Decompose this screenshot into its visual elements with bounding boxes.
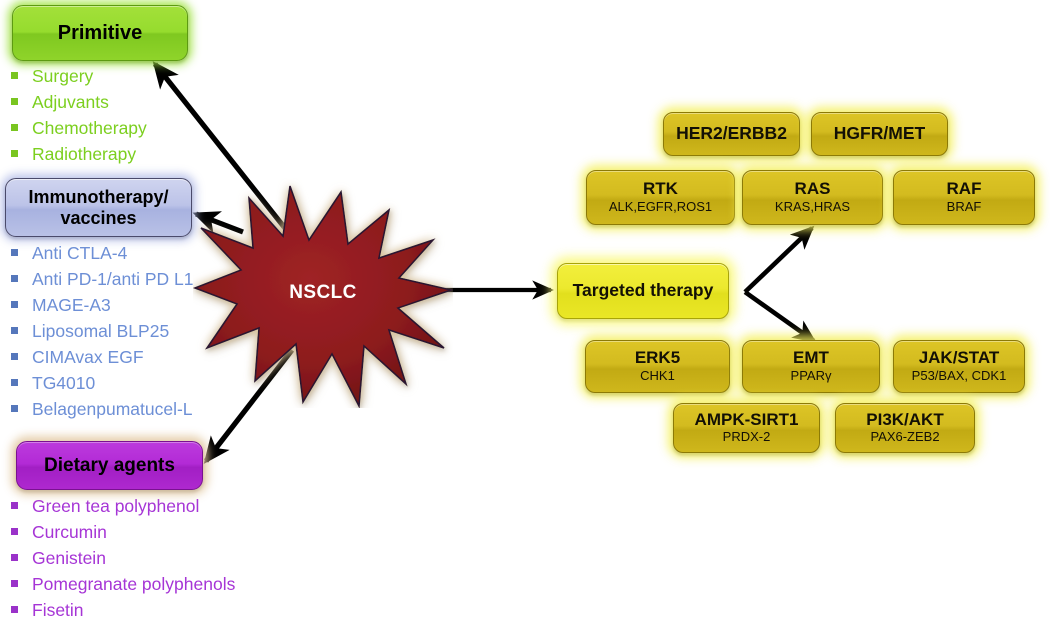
pathway-box-ras[interactable]: RAS KRAS,HRAS [742, 170, 883, 225]
list-item-label: Belagenpumatucel-L [32, 399, 193, 420]
list-item-label: Pomegranate polyphenols [32, 574, 235, 595]
list-item-label: CIMAvax EGF [32, 347, 144, 368]
pathway-sub-label: PAX6-ZEB2 [870, 430, 939, 445]
pathway-main-label: RAF [947, 180, 982, 199]
list-item: Genistein [11, 548, 235, 574]
pathway-sub-label: P53/BAX, CDK1 [912, 369, 1007, 384]
list-item: Surgery [11, 66, 147, 92]
header-primitive[interactable]: Primitive [12, 5, 188, 61]
list-item-label: Genistein [32, 548, 106, 569]
bullet-square-icon [11, 353, 18, 360]
list-item-label: Curcumin [32, 522, 107, 543]
bullet-square-icon [11, 249, 18, 256]
list-item: Chemotherapy [11, 118, 147, 144]
arrow-targeted-to-upper [745, 228, 812, 292]
list-item: Radiotherapy [11, 144, 147, 170]
pathway-main-label: ERK5 [635, 349, 680, 368]
header-immunotherapy[interactable]: Immunotherapy/ vaccines [5, 178, 192, 237]
list-item: TG4010 [11, 373, 193, 399]
bullet-square-icon [11, 150, 18, 157]
list-item-label: Adjuvants [32, 92, 109, 113]
list-item: Green tea polyphenol [11, 496, 235, 522]
pathway-box-erk5[interactable]: ERK5 CHK1 [585, 340, 730, 393]
list-item: Anti PD-1/anti PD L1 [11, 269, 193, 295]
bullet-square-icon [11, 275, 18, 282]
bullet-square-icon [11, 72, 18, 79]
bullet-square-icon [11, 301, 18, 308]
list-item: MAGE-A3 [11, 295, 193, 321]
bullet-square-icon [11, 580, 18, 587]
list-item: Adjuvants [11, 92, 147, 118]
list-item-label: Green tea polyphenol [32, 496, 199, 517]
list-item-label: Liposomal BLP25 [32, 321, 169, 342]
list-primitive: Surgery Adjuvants Chemotherapy Radiother… [11, 66, 147, 170]
list-item: Liposomal BLP25 [11, 321, 193, 347]
pathway-box-raf[interactable]: RAF BRAF [893, 170, 1035, 225]
bullet-square-icon [11, 502, 18, 509]
pathway-box-emt[interactable]: EMT PPARγ [742, 340, 880, 393]
bullet-square-icon [11, 327, 18, 334]
list-item-label: MAGE-A3 [32, 295, 111, 316]
list-item-label: Radiotherapy [32, 144, 136, 165]
list-item-label: Anti CTLA-4 [32, 243, 127, 264]
header-dietary-agents-label: Dietary agents [44, 455, 175, 476]
pathway-box-hgfr-met[interactable]: HGFR/MET [811, 112, 948, 156]
pathway-main-label: JAK/STAT [919, 349, 1000, 368]
list-item: Anti CTLA-4 [11, 243, 193, 269]
arrow-targeted-to-lower [745, 292, 814, 341]
bullet-square-icon [11, 98, 18, 105]
pathway-box-her2-erbb2[interactable]: HER2/ERBB2 [663, 112, 800, 156]
header-immunotherapy-label-line2: vaccines [60, 208, 136, 228]
targeted-therapy-box[interactable]: Targeted therapy [557, 263, 729, 319]
list-item-label: TG4010 [32, 373, 95, 394]
header-dietary-agents[interactable]: Dietary agents [16, 441, 203, 490]
header-primitive-label: Primitive [58, 22, 142, 44]
pathway-sub-label: PRDX-2 [723, 430, 771, 445]
pathway-box-jak-stat[interactable]: JAK/STAT P53/BAX, CDK1 [893, 340, 1025, 393]
pathway-sub-label: PPARγ [791, 369, 832, 384]
list-item: Belagenpumatucel-L [11, 399, 193, 425]
pathway-main-label: EMT [793, 349, 829, 368]
list-immunotherapy: Anti CTLA-4 Anti PD-1/anti PD L1 MAGE-A3… [11, 243, 193, 425]
list-item: Pomegranate polyphenols [11, 574, 235, 600]
list-item-label: Chemotherapy [32, 118, 147, 139]
bullet-square-icon [11, 606, 18, 613]
pathway-sub-label: KRAS,HRAS [775, 200, 850, 215]
bullet-square-icon [11, 528, 18, 535]
list-item-label: Fisetin [32, 600, 84, 621]
pathway-main-label: RAS [795, 180, 831, 199]
pathway-box-ampk-sirt1[interactable]: AMPK-SIRT1 PRDX-2 [673, 403, 820, 453]
list-item-label: Surgery [32, 66, 93, 87]
list-item: Fisetin [11, 600, 235, 622]
pathway-sub-label: BRAF [947, 200, 982, 215]
pathway-sub-label: CHK1 [640, 369, 675, 384]
bullet-square-icon [11, 554, 18, 561]
pathway-box-rtk[interactable]: RTK ALK,EGFR,ROS1 [586, 170, 735, 225]
diagram-canvas: Primitive Surgery Adjuvants Chemotherapy… [0, 0, 1050, 622]
bullet-square-icon [11, 379, 18, 386]
header-immunotherapy-label-line1: Immunotherapy/ [28, 187, 168, 207]
bullet-square-icon [11, 124, 18, 131]
starburst-shape-icon [193, 178, 453, 408]
pathway-box-pi3k-akt[interactable]: PI3K/AKT PAX6-ZEB2 [835, 403, 975, 453]
pathway-main-label: PI3K/AKT [866, 411, 943, 430]
list-item-label: Anti PD-1/anti PD L1 [32, 269, 193, 290]
nsclc-node[interactable]: NSCLC [193, 178, 453, 408]
pathway-main-label: HGFR/MET [834, 124, 925, 143]
list-item: Curcumin [11, 522, 235, 548]
pathway-main-label: HER2/ERBB2 [676, 124, 787, 143]
list-item: CIMAvax EGF [11, 347, 193, 373]
pathway-main-label: RTK [643, 180, 678, 199]
bullet-square-icon [11, 405, 18, 412]
pathway-main-label: AMPK-SIRT1 [695, 411, 799, 430]
pathway-sub-label: ALK,EGFR,ROS1 [609, 200, 712, 215]
list-dietary-agents: Green tea polyphenol Curcumin Genistein … [11, 496, 235, 622]
targeted-therapy-label: Targeted therapy [573, 281, 714, 300]
